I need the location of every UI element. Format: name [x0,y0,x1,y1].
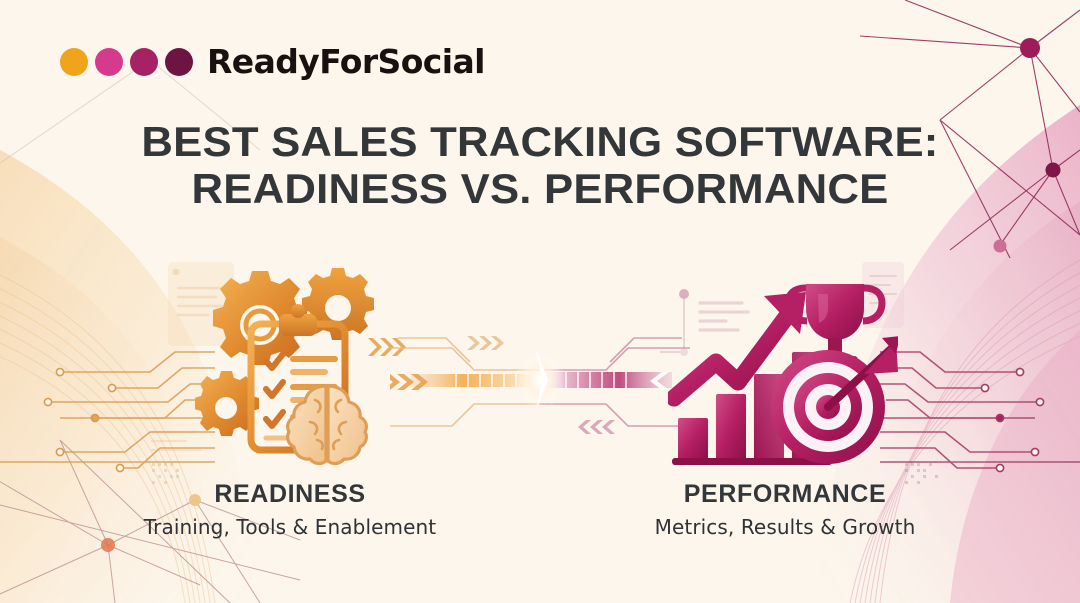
chevrons-back-bottom-icon [578,420,615,434]
readiness-subtitle: Training, Tools & Enablement [80,515,500,539]
dot-plum-icon [165,48,193,76]
brand-logo[interactable]: ReadyForSocial [60,42,485,81]
infographic-canvas: ReadyForSocial BEST SALES TRACKING SOFTW… [0,0,1080,603]
collision-flash-icon [514,350,566,410]
readiness-label-block: READINESS Training, Tools & Enablement [80,480,500,539]
title-line-2: READINESS VS. PERFORMANCE [0,165,1080,212]
chevrons-forward-top-icon [467,336,504,350]
logo-dots [60,48,193,76]
performance-icon-chart-trophy-target [668,270,898,470]
readiness-icon-gears-clipboard-brain [195,262,410,467]
performance-title: PERFORMANCE [575,480,995,509]
title-line-1: BEST SALES TRACKING SOFTWARE: [141,118,938,165]
dot-dark-magenta-icon [130,48,158,76]
dot-magenta-icon [95,48,123,76]
energy-beam-connector [390,330,690,440]
performance-subtitle: Metrics, Results & Growth [575,515,995,539]
dot-orange-icon [60,48,88,76]
brand-name: ReadyForSocial [207,42,485,81]
page-title: BEST SALES TRACKING SOFTWARE: READINESS … [0,118,1080,212]
readiness-title: READINESS [80,480,500,509]
performance-label-block: PERFORMANCE Metrics, Results & Growth [575,480,995,539]
